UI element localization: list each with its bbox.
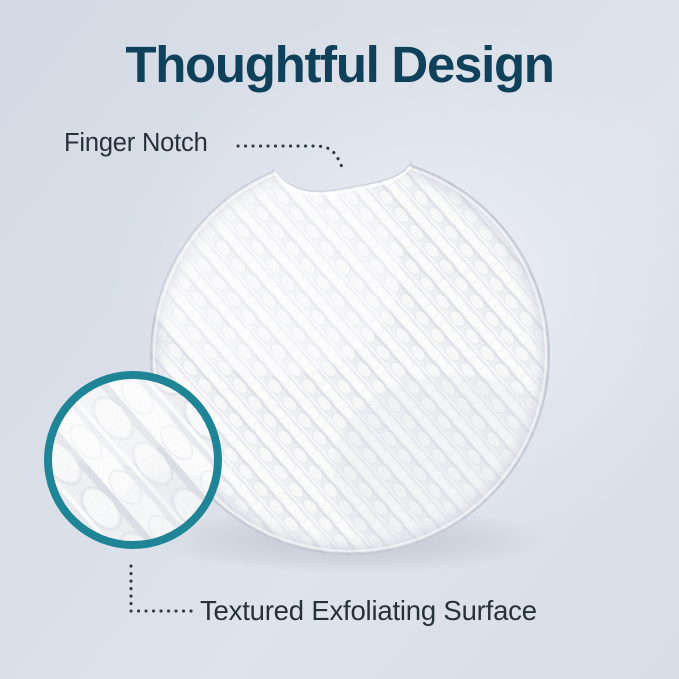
infographic-artwork	[0, 0, 679, 679]
leader-line-textured-surface	[131, 566, 193, 611]
product-infographic: Thoughtful Design Finger Notch Textured …	[0, 0, 679, 679]
callout-label-finger-notch: Finger Notch	[64, 129, 208, 158]
callout-label-textured-surface: Textured Exfoliating Surface	[200, 595, 537, 627]
page-title: Thoughtful Design	[0, 38, 679, 92]
